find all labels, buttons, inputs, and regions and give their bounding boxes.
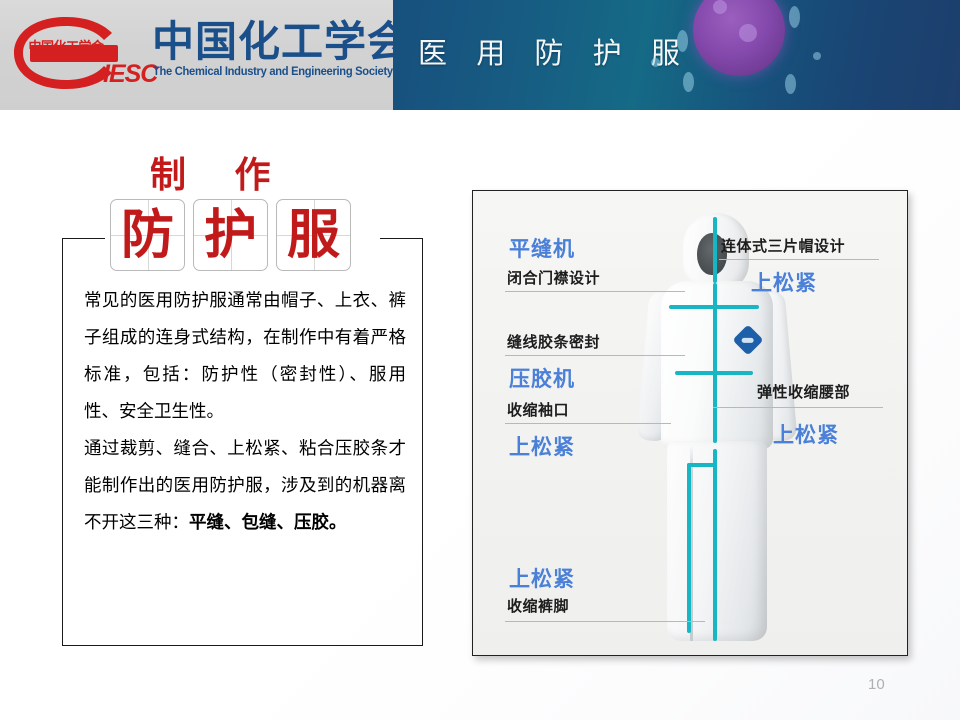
- boxed-char-text: 防: [111, 209, 184, 262]
- decorative-bubble: [651, 58, 660, 67]
- organization-logo-band: 中国化工学会 IESC 中国化工学会 The Chemical Industry…: [0, 0, 393, 110]
- society-name-chinese: 中国化工学会: [152, 8, 410, 69]
- callout-leader-line: [505, 355, 685, 356]
- suit-seam-tape: [687, 463, 691, 633]
- callout-leader-line: [505, 291, 685, 292]
- callout-label-elastic-ankle: 收缩裤脚: [507, 595, 569, 616]
- callout-leader-line: [713, 407, 883, 408]
- virus-particle-icon: [693, 0, 785, 76]
- boxed-title-characters: 防 护 服: [110, 199, 351, 271]
- header-title-band: 医 用 防 护 服: [393, 0, 960, 110]
- header-title: 医 用 防 护 服: [418, 30, 690, 72]
- boxed-char-text: 服: [277, 209, 350, 262]
- callout-label-elastic-hood: 上松紧: [751, 267, 817, 297]
- boxed-char-cell: 防: [110, 199, 185, 271]
- callout-label-closed-placket: 闭合门襟设计: [507, 267, 600, 288]
- callout-label-elastic-top: 上松紧: [509, 431, 575, 461]
- decorative-bubble: [813, 52, 821, 60]
- ring-logo-text: 中国化工学会: [22, 36, 110, 55]
- paragraph-1: 常见的医用防护服通常由帽子、上衣、裤子组成的连身式结构，在制作中有着严格标准，包…: [84, 283, 406, 431]
- boxed-char-cell: 服: [276, 199, 351, 271]
- virus-spike-icon: [683, 72, 694, 92]
- virus-spike-icon: [785, 74, 796, 94]
- callout-leader-line: [505, 621, 705, 622]
- product-image-panel: 平缝机 闭合门襟设计 缝线胶条密封 压胶机 收缩袖口 上松紧 上松紧 收缩裤脚 …: [472, 190, 908, 656]
- callout-label-elastic-cuff: 收缩袖口: [507, 399, 569, 420]
- slide-header: 中国化工学会 IESC 中国化工学会 The Chemical Industry…: [0, 0, 960, 110]
- society-abbreviation: IESC: [103, 60, 157, 89]
- body-text: 常见的医用防护服通常由帽子、上衣、裤子组成的连身式结构，在制作中有着严格标准，包…: [84, 283, 406, 542]
- paragraph-2-emphasis: 平缝、包缝、压胶。: [189, 513, 347, 533]
- suit-seam-tape: [713, 217, 717, 283]
- callout-label-elastic-waist-blue: 上松紧: [773, 419, 839, 449]
- page-number: 10: [868, 676, 885, 693]
- suit-seam-tape: [713, 449, 717, 641]
- callout-leader-line: [719, 259, 879, 260]
- suit-seam-tape: [675, 371, 753, 375]
- callout-label-flat-seam-machine: 平缝机: [509, 233, 575, 263]
- callout-label-seam-tape-seal: 缝线胶条密封: [507, 331, 600, 352]
- callout-label-three-panel-hood: 连体式三片帽设计: [721, 235, 845, 256]
- boxed-char-text: 护: [194, 209, 267, 262]
- callout-label-elastic-waist: 弹性收缩腰部: [757, 381, 850, 402]
- boxed-char-cell: 护: [193, 199, 268, 271]
- suit-legs: [667, 441, 767, 641]
- virus-spike-icon: [789, 6, 800, 28]
- paragraph-2: 通过裁剪、缝合、上松紧、粘合压胶条才能制作出的医用防护服，涉及到的机器离不开这三…: [84, 431, 406, 542]
- section-heading: 制 作: [150, 146, 289, 198]
- callout-leader-line: [505, 423, 671, 424]
- product-image: 平缝机 闭合门襟设计 缝线胶条密封 压胶机 收缩袖口 上松紧 上松紧 收缩裤脚 …: [473, 191, 907, 655]
- virus-spike-icon: [677, 30, 688, 52]
- callout-label-tape-machine: 压胶机: [509, 363, 575, 393]
- suit-seam-tape: [687, 463, 717, 467]
- callout-label-elastic-bottom: 上松紧: [509, 563, 575, 593]
- suit-seam-tape: [669, 305, 759, 309]
